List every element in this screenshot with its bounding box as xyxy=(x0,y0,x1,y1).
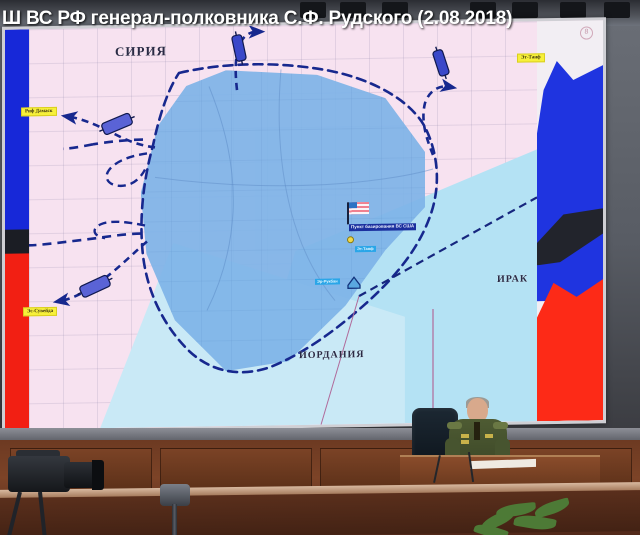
camp-tent-icon xyxy=(347,276,361,290)
locality-label-rif-dimashq: Риф Дамаск xyxy=(21,107,57,117)
flag-red-stripe xyxy=(5,253,29,429)
locality-label-as-suwayda: Эс-Сувейда xyxy=(23,307,57,317)
country-label-iraq: ИРАК xyxy=(497,273,528,284)
officer-medal xyxy=(485,434,493,438)
russian-flag-left-band xyxy=(5,29,29,429)
officer-epaulette xyxy=(447,422,462,429)
country-label-syria: СИРИЯ xyxy=(115,43,167,60)
tv-camera xyxy=(4,450,124,520)
officer-medal xyxy=(461,434,469,438)
camp-label-rukban: Эр-Рукбан xyxy=(315,278,340,285)
potted-plant xyxy=(470,498,590,535)
us-flag-icon xyxy=(347,202,369,215)
presentation-screen: СИРИЯ ИРАК ИОРДАНИЯ Риф Дамаск Эс-Сувейд… xyxy=(2,17,606,432)
plant-leaf xyxy=(533,497,571,518)
tripod-pole xyxy=(172,504,177,535)
flag-canton xyxy=(349,202,357,208)
officer-medal xyxy=(461,440,469,444)
flag-blue-stripe xyxy=(537,60,603,301)
slide-canvas: СИРИЯ ИРАК ИОРДАНИЯ Риф Дамаск Эс-Сувейд… xyxy=(5,20,603,429)
camera-body xyxy=(8,456,70,492)
country-label-jordan: ИОРДАНИЯ xyxy=(299,349,364,361)
officer-tie xyxy=(474,422,480,440)
base-sub-label: Эт-Танф xyxy=(355,246,376,253)
officer-epaulette xyxy=(493,422,508,429)
map-area: СИРИЯ ИРАК ИОРДАНИЯ Риф Дамаск Эс-Сувейд… xyxy=(29,21,537,429)
tripod-head xyxy=(160,484,190,506)
us-base-caption: Пункт базирования ВС США xyxy=(349,223,416,231)
camera-lens-hood xyxy=(92,460,104,490)
broadcast-title: Ш ВС РФ генерал-полковника С.Ф. Рудского… xyxy=(0,8,640,30)
flag-red-stripe xyxy=(537,276,603,421)
flag-blue-stripe xyxy=(5,29,29,237)
broadcast-screenshot: СИРИЯ ИРАК ИОРДАНИЯ Риф Дамаск Эс-Сувейд… xyxy=(0,0,640,535)
russian-flag-right-band xyxy=(537,20,603,421)
convoy-symbols xyxy=(29,21,537,429)
locality-label-at-tanf: Эт-Танф xyxy=(517,53,545,62)
